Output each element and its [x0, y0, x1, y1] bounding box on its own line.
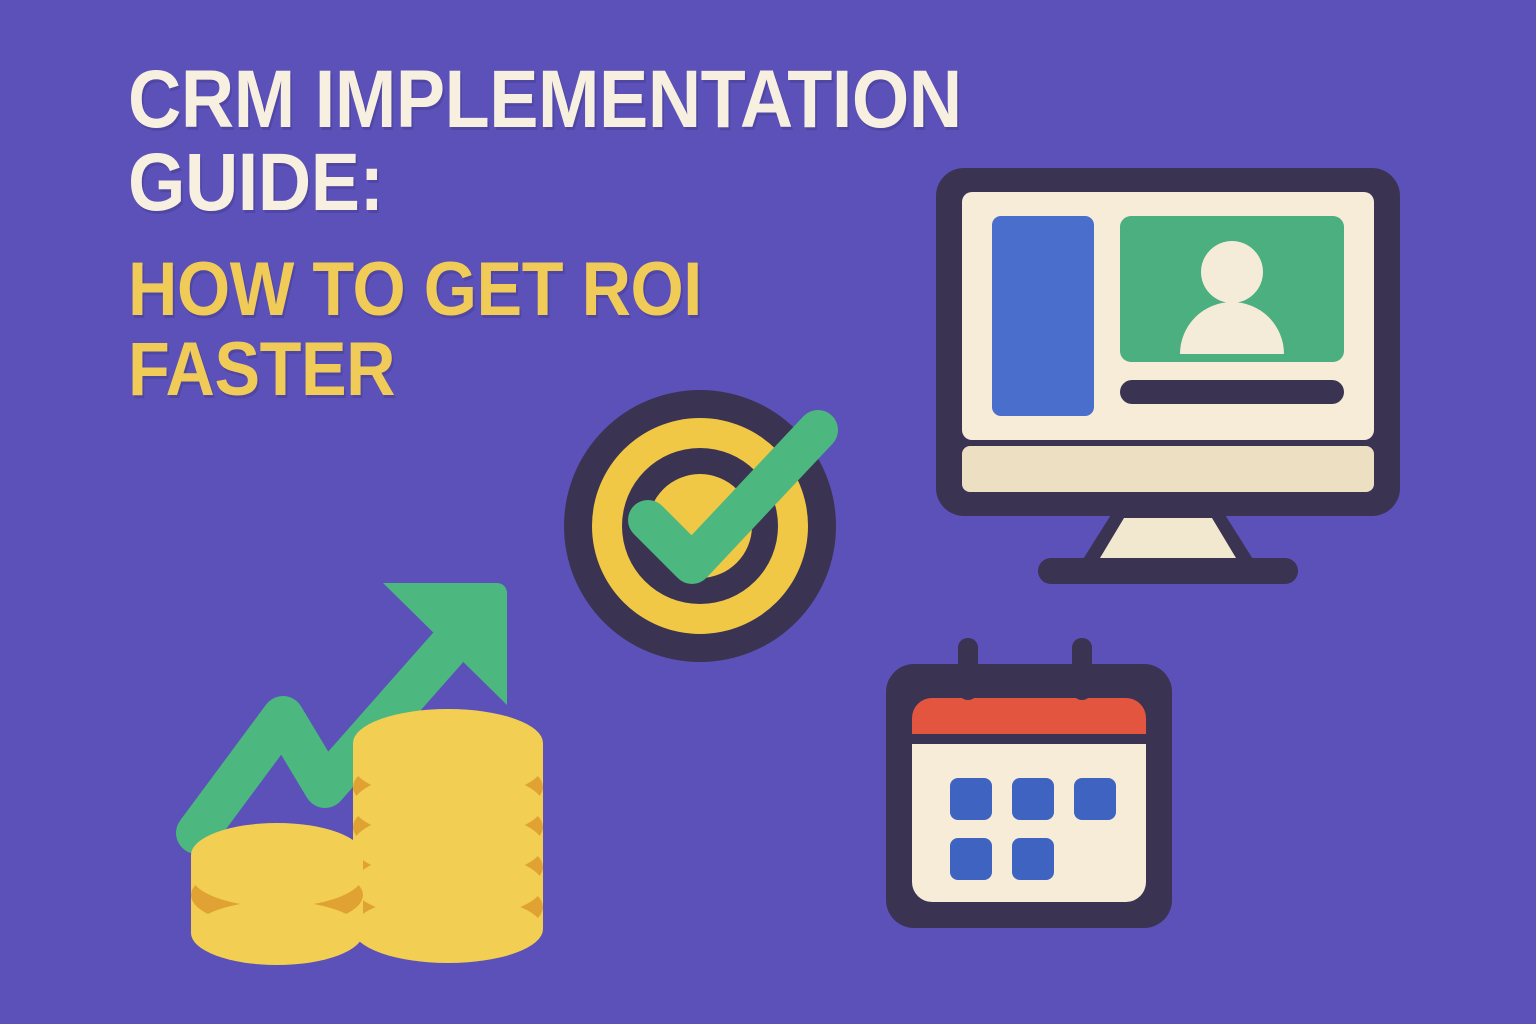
coin-bottom-face — [353, 895, 543, 963]
page-title-line-1: CRM IMPLEMENTATION — [128, 62, 956, 137]
coin-stack-tall — [353, 709, 543, 963]
avatar — [1201, 241, 1263, 303]
calendar-day-square — [1012, 838, 1054, 880]
coin-stack-short — [191, 823, 363, 965]
desktop-monitor-crm-dashboard-icon — [928, 160, 1408, 590]
calendar-ring-left-overlay — [958, 638, 978, 700]
calendar-ring-right-overlay — [1072, 638, 1092, 700]
coin-stack-top — [191, 823, 363, 887]
banner-canvas: CRM IMPLEMENTATION GUIDE: HOW TO GET ROI… — [0, 0, 1536, 1024]
monitor-stand-inner — [1100, 518, 1236, 558]
sidebar-panel — [992, 216, 1094, 416]
calendar-day-square — [1012, 778, 1054, 820]
calendar-day-square — [1074, 778, 1116, 820]
calendar-day-square — [950, 778, 992, 820]
monitor-base-strip — [962, 446, 1374, 492]
target-checkmark-icon — [560, 378, 860, 668]
calendar-day-square — [950, 838, 992, 880]
page-subtitle-line-1: HOW TO GET ROI — [128, 255, 956, 325]
growth-arrow-coins-icon — [175, 565, 585, 965]
headline-block: CRM IMPLEMENTATION GUIDE: HOW TO GET ROI… — [128, 62, 1048, 405]
coin-bottom-face — [191, 901, 363, 965]
calendar-header-band — [912, 698, 1146, 734]
text-bar — [1120, 380, 1344, 404]
page-title-line-2: GUIDE: — [128, 145, 956, 220]
calendar-icon — [872, 630, 1192, 950]
coin-stack-top — [353, 709, 543, 777]
